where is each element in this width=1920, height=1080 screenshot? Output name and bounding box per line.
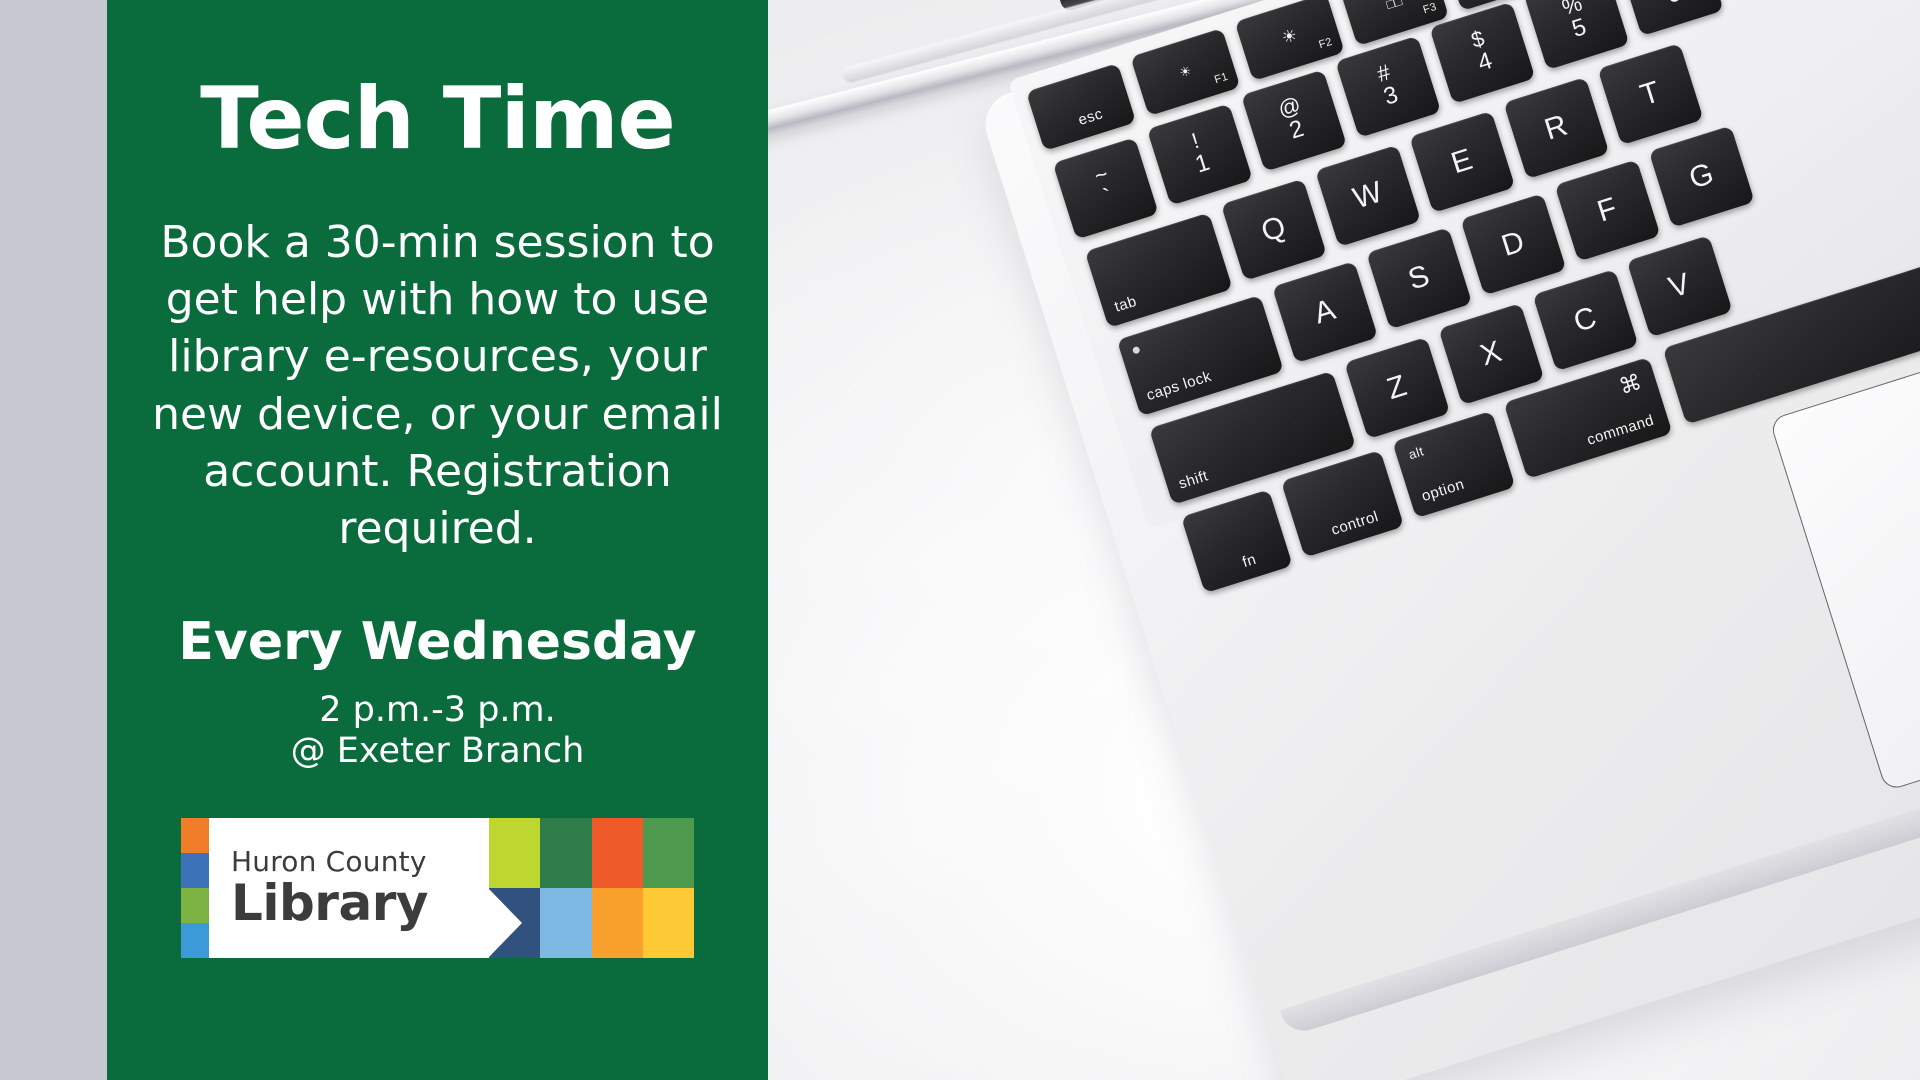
logo-grid-swatch-8 (643, 888, 694, 958)
key-5-bot: 5 (1569, 15, 1590, 43)
key-option-alt-label: alt (1407, 443, 1426, 462)
key-caps-lock-label: caps lock (1144, 368, 1213, 404)
poster-description: Book a 30-min session to get help with h… (133, 214, 742, 557)
key-w[interactable]: W (1315, 145, 1421, 247)
key-g[interactable]: G (1649, 126, 1755, 228)
key-w-label: W (1349, 175, 1387, 216)
key-q[interactable]: Q (1221, 179, 1327, 281)
logo-swatch-left-1 (181, 818, 209, 853)
huron-county-library-logo: Huron County Library (181, 818, 694, 958)
key-1[interactable]: ! 1 (1147, 103, 1253, 205)
key-r-label: R (1541, 109, 1572, 148)
key-f-label: F (1593, 191, 1621, 229)
key-esc[interactable]: esc (1026, 63, 1136, 151)
key-g-label: G (1685, 157, 1718, 197)
logo-name-top: Huron County (231, 848, 489, 876)
key-x-label: X (1476, 335, 1506, 374)
key-option-label: option (1420, 476, 1467, 505)
recurrence-heading: Every Wednesday (178, 615, 696, 670)
key-z-label: Z (1383, 369, 1411, 407)
key-d-label: D (1498, 225, 1529, 264)
key-5[interactable]: % 5 (1523, 0, 1629, 70)
logo-arrow-icon (488, 888, 522, 958)
key-f[interactable]: F (1555, 159, 1661, 261)
key-f3-tag: F3 (1422, 1, 1438, 16)
key-c-label: C (1570, 301, 1601, 340)
key-tilde-bot: ` (1101, 185, 1117, 211)
key-f1-tag: F1 (1213, 71, 1229, 86)
logo-grid-swatch-7 (592, 888, 643, 958)
key-3[interactable]: # 3 (1335, 36, 1441, 138)
key-esc-label: esc (1076, 105, 1105, 129)
key-v-label: V (1665, 267, 1695, 306)
key-2[interactable]: @ 2 (1241, 70, 1347, 172)
key-tab-label: tab (1112, 293, 1138, 316)
logo-name-bottom: Library (231, 878, 489, 928)
logo-left-swatch-strip (181, 818, 209, 958)
poster: esc ☀ F1 ☀ F2 □□ F3 ∷ F4 (0, 0, 1920, 1080)
key-s-label: S (1404, 259, 1434, 298)
key-x[interactable]: X (1438, 303, 1544, 405)
brightness-down-icon: ☀ (1177, 63, 1193, 82)
green-info-panel: Tech Time Book a 30-min session to get h… (107, 0, 768, 1080)
key-control-label: control (1329, 508, 1380, 539)
event-time: 2 p.m.-3 p.m. (319, 690, 556, 731)
key-t-label: T (1636, 75, 1664, 113)
key-e-label: E (1447, 143, 1477, 182)
logo-grid-swatch-1 (489, 818, 540, 888)
page-title: Tech Time (200, 76, 675, 162)
event-location: @ Exeter Branch (291, 731, 585, 772)
key-4[interactable]: $ 4 (1429, 2, 1535, 104)
mission-control-icon: □□ (1384, 0, 1404, 12)
logo-swatch-left-3 (181, 888, 209, 923)
logo-swatch-left-2 (181, 853, 209, 888)
key-a-label: A (1310, 293, 1340, 332)
key-e[interactable]: E (1409, 111, 1515, 213)
key-d[interactable]: D (1460, 193, 1566, 295)
key-6[interactable]: ^ 6 (1618, 0, 1724, 36)
key-2-bot: 2 (1287, 117, 1308, 145)
key-fn-label: fn (1240, 551, 1258, 571)
logo-wordmark: Huron County Library (209, 818, 489, 958)
key-f1-brightness-down-icon[interactable]: ☀ F1 (1130, 28, 1240, 116)
key-4-bot: 4 (1475, 49, 1496, 77)
command-icon: ⌘ (1616, 369, 1645, 401)
key-v[interactable]: V (1627, 235, 1733, 337)
key-1-bot: 1 (1193, 150, 1214, 178)
key-f2-tag: F2 (1317, 36, 1333, 51)
key-a[interactable]: A (1272, 261, 1378, 363)
logo-grid-swatch-3 (592, 818, 643, 888)
key-shift-label: shift (1177, 467, 1211, 492)
logo-grid-swatch-2 (540, 818, 591, 888)
left-gray-strip (0, 0, 107, 1080)
key-q-label: Q (1257, 210, 1290, 250)
key-f2-brightness-up-icon[interactable]: ☀ F2 (1235, 0, 1345, 81)
key-t[interactable]: T (1598, 43, 1704, 145)
key-tilde[interactable]: ~ ` (1053, 137, 1159, 239)
caps-lock-indicator-icon (1132, 346, 1141, 355)
logo-swatch-left-4 (181, 923, 209, 958)
key-c[interactable]: C (1532, 269, 1638, 371)
logo-grid-swatch-6 (540, 888, 591, 958)
key-r[interactable]: R (1503, 77, 1609, 179)
key-3-bot: 3 (1381, 83, 1402, 111)
brightness-up-icon: ☀ (1279, 25, 1300, 49)
key-z[interactable]: Z (1344, 337, 1450, 439)
key-6-bot: 6 (1663, 0, 1684, 9)
logo-grid-swatch-4 (643, 818, 694, 888)
key-s[interactable]: S (1366, 227, 1472, 329)
